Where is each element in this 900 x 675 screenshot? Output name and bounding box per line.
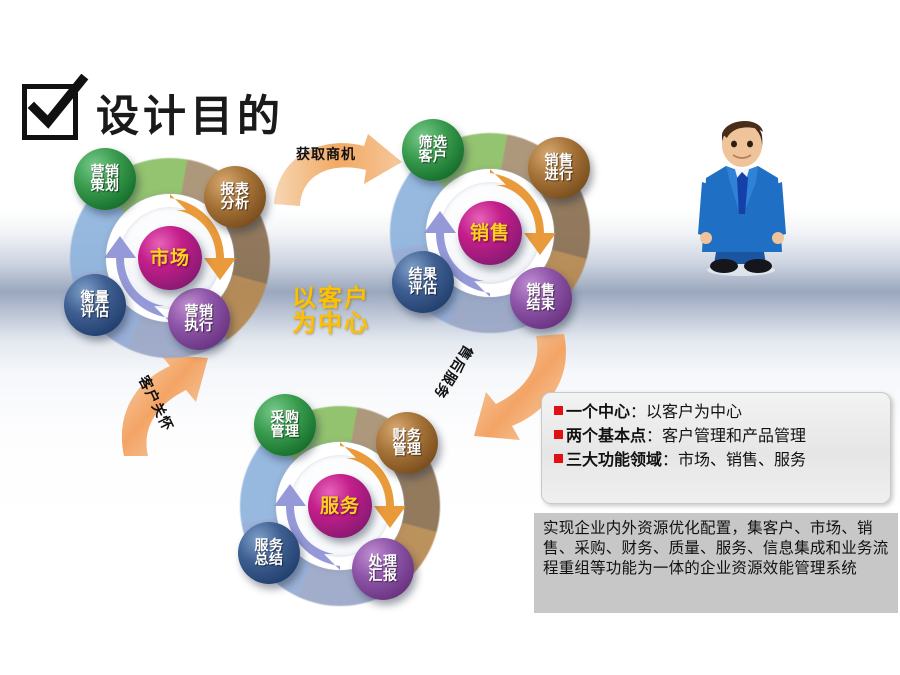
node-service-3-line2: 汇报 (369, 569, 398, 583)
cycle-service[interactable]: 采购 管理 财务 管理 处理 汇报 服务 总结 服务 (222, 388, 458, 624)
node-service-core[interactable]: 服务 (308, 474, 372, 538)
node-service-4-line1: 服务 (255, 539, 284, 553)
node-market-2-line2: 分析 (221, 197, 250, 211)
key-point-2-strong: 两个基本点 (566, 426, 646, 446)
bullet-square-icon (554, 430, 563, 439)
key-point-row-1: 一个中心 ：以客户为中心 (554, 402, 880, 422)
node-sales-4-line1: 结果 (409, 268, 438, 282)
connector-label-market-to-sales: 获取商机 (296, 144, 356, 164)
node-market-core[interactable]: 市场 (138, 226, 202, 290)
node-market-4-line1: 衡量 (81, 291, 110, 305)
node-service-3-line1: 处理 (369, 555, 398, 569)
center-slogan-line1: 以客户 (292, 286, 370, 311)
cycle-market[interactable]: 营销 策划 报表 分析 营销 执行 衡量 评估 市场 (52, 140, 288, 376)
key-points-panel: 一个中心 ：以客户为中心 两个基本点 ：客户管理和产品管理 三大功能领域 ：市场… (541, 392, 891, 504)
key-point-2-rest: ：客户管理和产品管理 (646, 426, 806, 446)
node-market-2[interactable]: 报表 分析 (204, 166, 266, 228)
node-market-2-line1: 报表 (221, 183, 250, 197)
center-slogan-line2: 为中心 (292, 311, 370, 336)
node-service-2[interactable]: 财务 管理 (376, 412, 438, 474)
node-market-4-line2: 评估 (81, 305, 110, 319)
cycle-sales[interactable]: 筛选 客户 销售 进行 销售 结束 结果 评估 销售 (372, 115, 608, 351)
slide-canvas: 设计目的 获取商机 售后服务 客户关怀 以客户 为中心 (0, 0, 900, 675)
node-sales-4-line2: 评估 (409, 282, 438, 296)
node-sales-3-line1: 销售 (527, 284, 556, 298)
node-sales-3-line2: 结束 (527, 298, 556, 312)
node-service-2-line1: 财务 (393, 429, 422, 443)
node-market-1[interactable]: 营销 策划 (74, 148, 136, 210)
node-market-1-line1: 营销 (91, 165, 120, 179)
node-market-3-line2: 执行 (185, 319, 214, 333)
node-service-core-label: 服务 (320, 497, 360, 516)
node-sales-2[interactable]: 销售 进行 (528, 137, 590, 199)
checkbox-checked-icon-box (22, 84, 78, 140)
node-market-1-line2: 策划 (91, 179, 120, 193)
key-point-1-strong: 一个中心 (566, 402, 630, 422)
node-sales-4[interactable]: 结果 评估 (392, 251, 454, 313)
node-sales-core-label: 销售 (470, 224, 510, 243)
page-title: 设计目的 (96, 82, 284, 144)
node-service-1[interactable]: 采购 管理 (254, 394, 316, 456)
key-point-3-strong: 三大功能领域 (566, 450, 662, 470)
node-market-3-line1: 营销 (185, 305, 214, 319)
node-sales-2-line1: 销售 (545, 154, 574, 168)
key-point-3-rest: ：市场、销售、服务 (662, 450, 806, 470)
node-market-core-label: 市场 (150, 249, 190, 268)
node-sales-1-line1: 筛选 (419, 136, 448, 150)
node-sales-1-line2: 客户 (419, 150, 448, 164)
node-service-1-line1: 采购 (271, 411, 300, 425)
description-panel: 实现企业内外资源优化配置，集客户、市场、销售、采购、财务、质量、服务、信息集成和… (534, 513, 898, 613)
businessman-icon (686, 112, 796, 277)
node-market-4[interactable]: 衡量 评估 (64, 274, 126, 336)
node-service-3[interactable]: 处理 汇报 (352, 538, 414, 600)
node-service-2-line2: 管理 (393, 443, 422, 457)
node-service-1-line2: 管理 (271, 425, 300, 439)
bullet-square-icon (554, 454, 563, 463)
node-sales-2-line2: 进行 (545, 168, 574, 182)
key-point-row-2: 两个基本点 ：客户管理和产品管理 (554, 426, 880, 446)
node-market-3[interactable]: 营销 执行 (168, 288, 230, 350)
center-slogan: 以客户 为中心 (292, 286, 370, 336)
node-sales-core[interactable]: 销售 (458, 201, 522, 265)
node-service-4-line2: 总结 (255, 553, 284, 567)
bullet-square-icon (554, 406, 563, 415)
key-point-row-3: 三大功能领域 ：市场、销售、服务 (554, 450, 880, 470)
node-service-4[interactable]: 服务 总结 (238, 522, 300, 584)
key-point-1-rest: ：以客户为中心 (630, 402, 742, 422)
node-sales-1[interactable]: 筛选 客户 (402, 119, 464, 181)
node-sales-3[interactable]: 销售 结束 (510, 267, 572, 329)
